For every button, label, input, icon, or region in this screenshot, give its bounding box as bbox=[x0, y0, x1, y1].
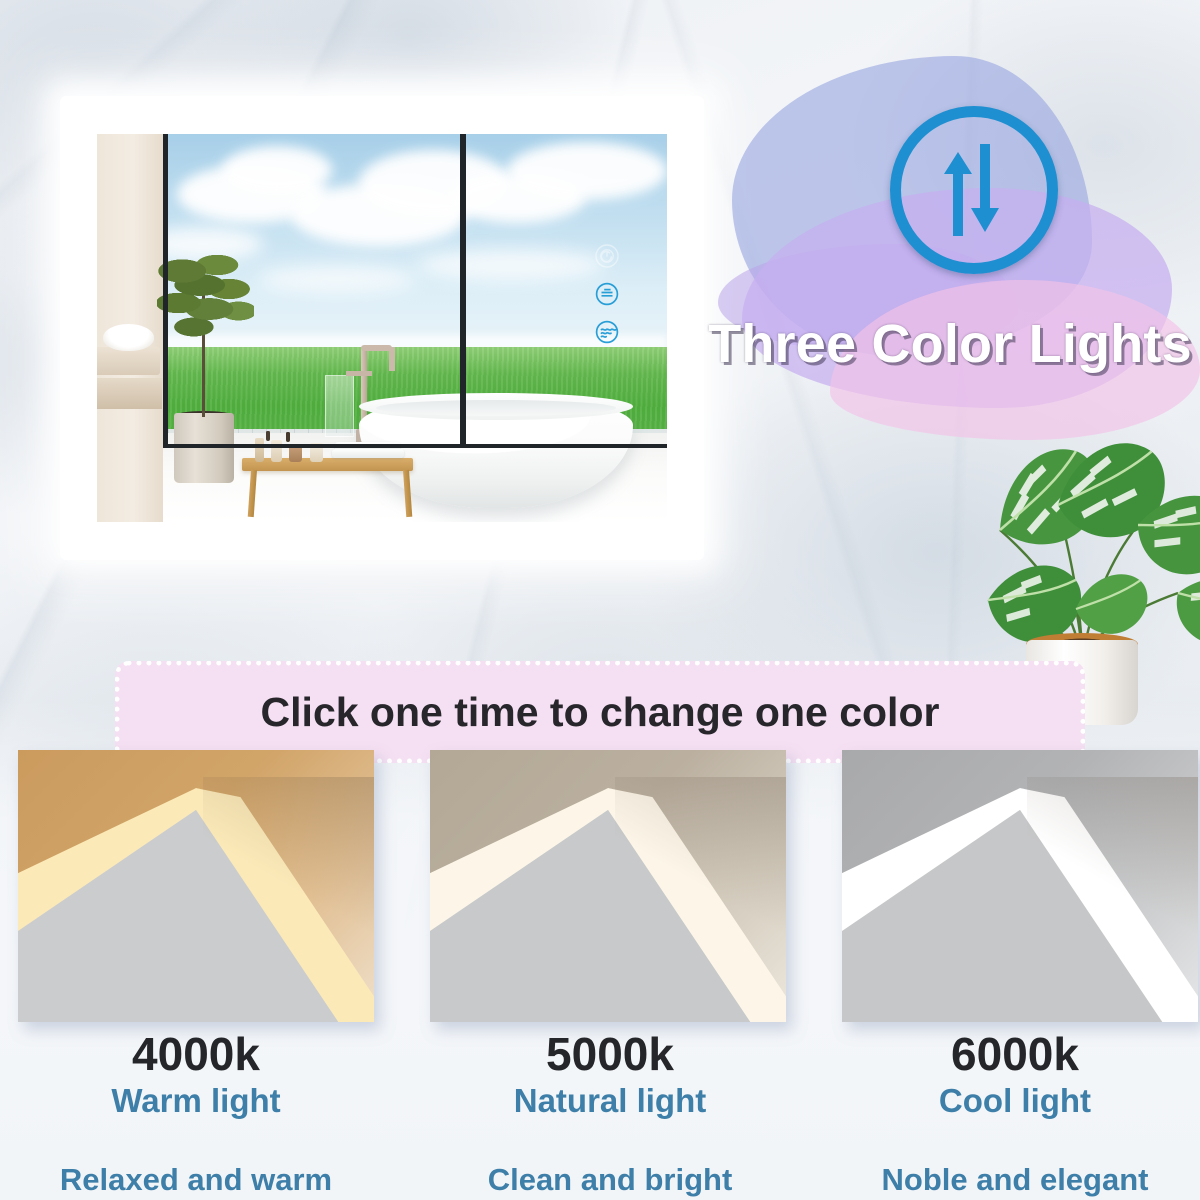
wall-basin-shelf bbox=[97, 347, 160, 374]
light-mood: Noble and elegant bbox=[820, 1162, 1200, 1198]
color-sample-5000k bbox=[430, 750, 786, 1022]
color-sample-4000k bbox=[18, 750, 374, 1022]
light-quality: Natural light bbox=[415, 1081, 805, 1121]
anti-fog-touch-sensor-icon[interactable] bbox=[594, 319, 620, 345]
wash-basin bbox=[103, 324, 154, 351]
light-quality: Warm light bbox=[1, 1081, 391, 1121]
window-sill-rail bbox=[163, 444, 667, 448]
folded-towel bbox=[332, 449, 404, 458]
bottle-pump bbox=[266, 431, 270, 440]
faucet-spout bbox=[389, 347, 395, 370]
window-mullion bbox=[460, 134, 466, 448]
headline-graphic: Three Color Lights bbox=[700, 48, 1200, 438]
touch-sensor-panel bbox=[590, 243, 624, 357]
cloud bbox=[222, 146, 332, 194]
caption-5000k: 5000k Natural light Clean and bright bbox=[415, 1030, 805, 1198]
color-temperature-touch-sensor-icon[interactable] bbox=[594, 281, 620, 307]
faucet-spout-arm bbox=[361, 345, 392, 351]
led-mirror-product bbox=[72, 108, 692, 548]
instruction-banner-text: Click one time to change one color bbox=[261, 689, 940, 736]
light-mood: Relaxed and warm bbox=[1, 1162, 391, 1198]
kelvin-value: 5000k bbox=[415, 1030, 805, 1079]
cloud bbox=[257, 266, 417, 292]
kelvin-value: 6000k bbox=[820, 1030, 1200, 1079]
mirror-reflection-scene bbox=[97, 134, 667, 522]
toiletry-bottle bbox=[255, 438, 264, 462]
faucet-handle bbox=[346, 371, 372, 376]
light-quality: Cool light bbox=[820, 1081, 1200, 1121]
wall-wood-shelf bbox=[97, 378, 162, 409]
kelvin-value: 4000k bbox=[1, 1030, 391, 1079]
toggle-up-down-arrows-icon bbox=[890, 106, 1058, 274]
product-infographic: Three Color Lights bbox=[0, 0, 1200, 1200]
light-mood: Clean and bright bbox=[415, 1162, 805, 1198]
power-touch-sensor-icon[interactable] bbox=[594, 243, 620, 269]
cloud bbox=[507, 142, 667, 200]
olive-tree-foliage bbox=[157, 247, 254, 348]
caption-6000k: 6000k Cool light Noble and elegant bbox=[820, 1030, 1200, 1198]
bottle-pump bbox=[286, 432, 290, 441]
wooden-bench-top bbox=[242, 458, 413, 471]
caption-4000k: 4000k Warm light Relaxed and warm bbox=[1, 1030, 391, 1198]
headline-title: Three Color Lights bbox=[700, 313, 1200, 375]
color-sample-6000k bbox=[842, 750, 1198, 1022]
window-mullion bbox=[163, 134, 168, 448]
glass-shower-panel bbox=[325, 375, 354, 437]
instruction-banner: Click one time to change one color bbox=[115, 661, 1085, 763]
